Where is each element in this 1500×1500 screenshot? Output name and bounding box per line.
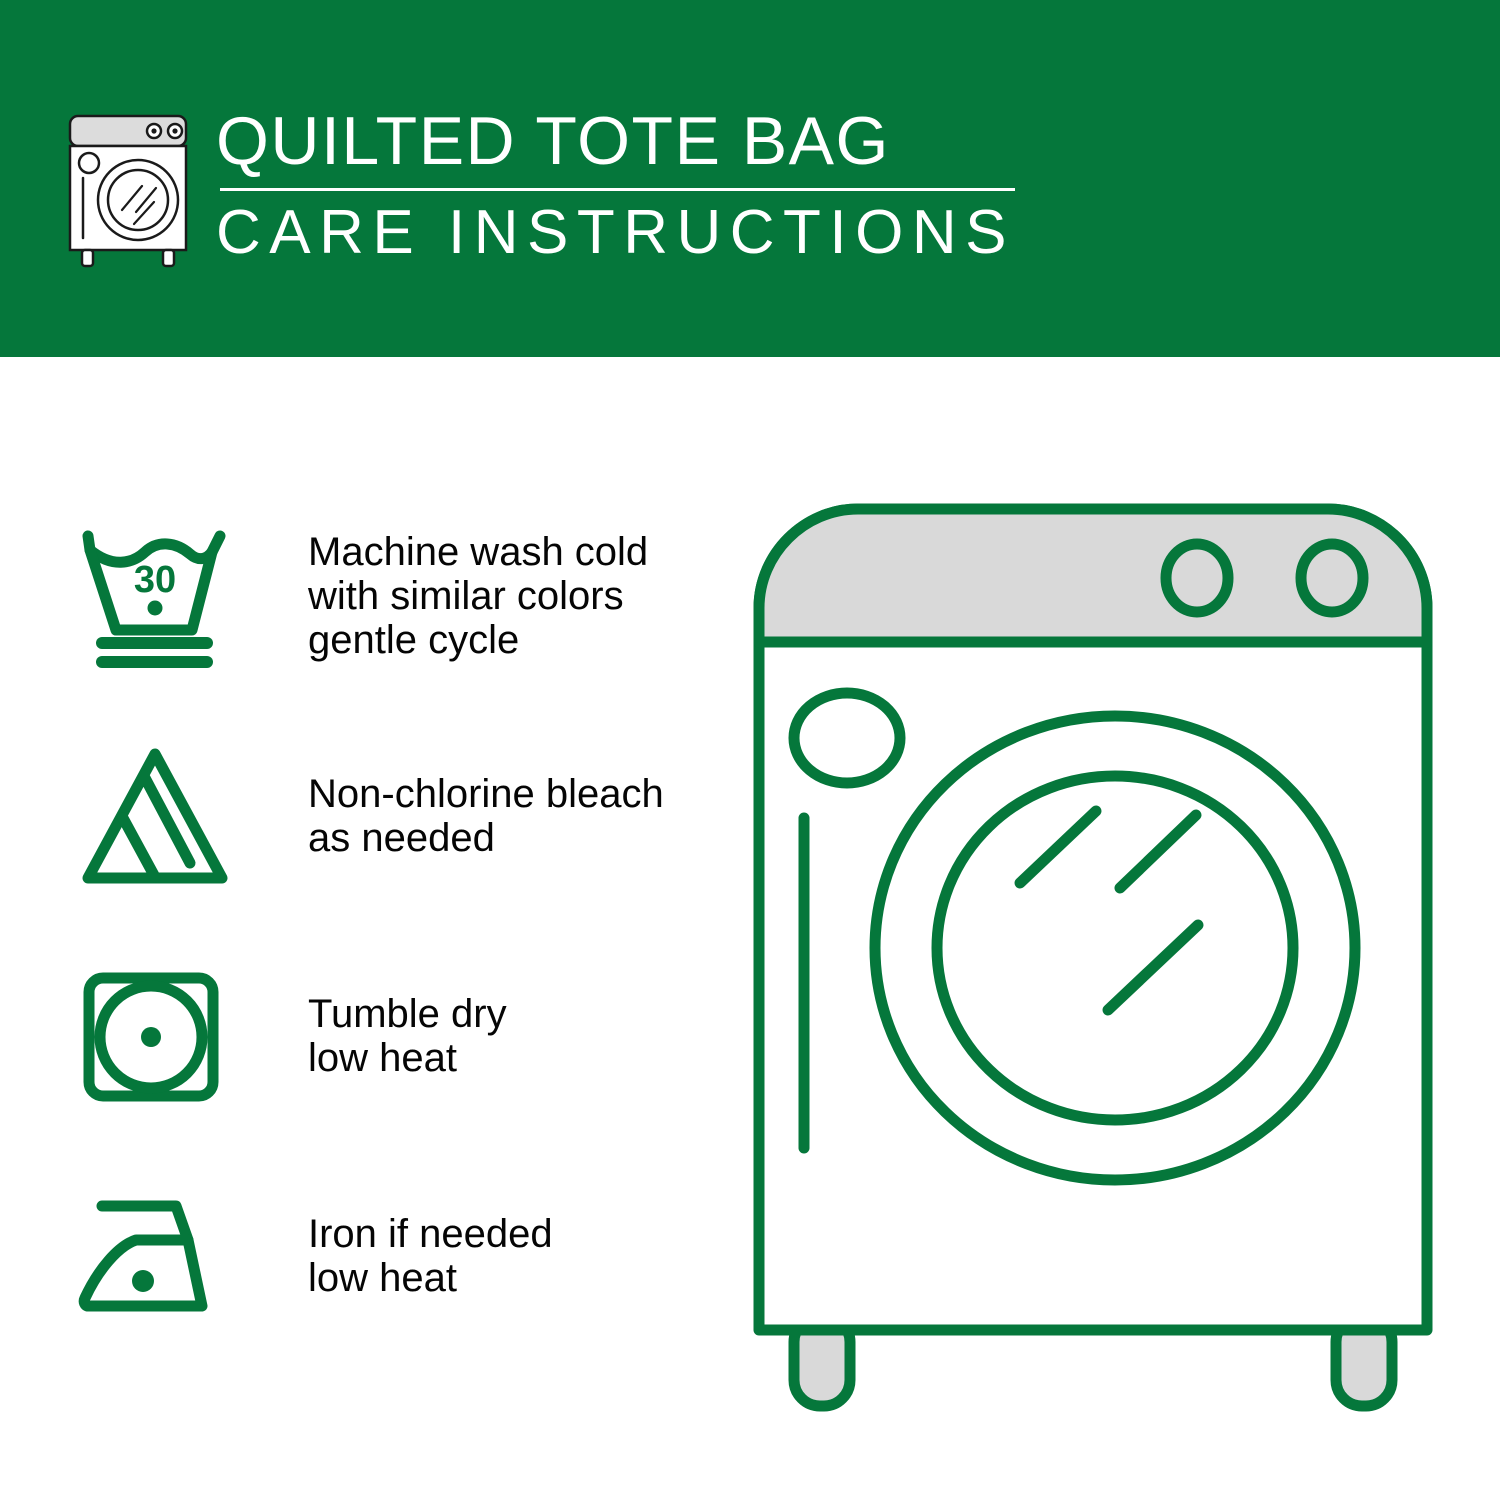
iron-low-heat-symbol — [72, 1181, 242, 1331]
care-line: as needed — [308, 816, 664, 860]
non-chlorine-bleach-symbol — [72, 741, 242, 891]
washing-machine-illustration — [748, 498, 1438, 1428]
care-row-iron: Iron if needed low heat — [72, 1172, 712, 1340]
care-line: low heat — [308, 1036, 507, 1080]
care-line: Non-chlorine bleach — [308, 772, 664, 816]
wash-temperature-value: 30 — [134, 559, 176, 601]
page-subtitle: CARE INSTRUCTIONS — [216, 199, 1015, 267]
care-text-machine-wash: Machine wash cold with similar colors ge… — [308, 530, 648, 662]
machine-wash-30-gentle-symbol: 30 — [72, 521, 242, 671]
care-line: Tumble dry — [308, 992, 507, 1036]
washer-knob-left — [1166, 544, 1228, 612]
care-text-bleach: Non-chlorine bleach as needed — [308, 772, 664, 860]
care-line: Machine wash cold — [308, 530, 648, 574]
header-content: QUILTED TOTE BAG CARE INSTRUCTIONS — [62, 104, 1015, 272]
care-row-machine-wash: 30 Machine wash cold with similar colors… — [72, 512, 712, 680]
care-text-tumble-dry: Tumble dry low heat — [308, 992, 507, 1080]
care-row-tumble-dry: Tumble dry low heat — [72, 952, 712, 1120]
tumble-dry-low-symbol — [72, 961, 242, 1111]
page-title: QUILTED TOTE BAG — [216, 104, 1015, 178]
header-banner: QUILTED TOTE BAG CARE INSTRUCTIONS — [0, 0, 1500, 357]
header-title-block: QUILTED TOTE BAG CARE INSTRUCTIONS — [216, 104, 1015, 267]
care-instruction-list: 30 Machine wash cold with similar colors… — [72, 512, 712, 1340]
care-line: low heat — [308, 1256, 553, 1300]
care-line: with similar colors — [308, 574, 648, 618]
title-divider — [220, 188, 1015, 191]
care-line: gentle cycle — [308, 618, 648, 662]
washer-detergent-port — [794, 693, 900, 783]
care-row-bleach: Non-chlorine bleach as needed — [72, 732, 712, 900]
care-text-iron: Iron if needed low heat — [308, 1212, 553, 1300]
care-line: Iron if needed — [308, 1212, 553, 1256]
washing-machine-icon — [62, 112, 194, 272]
washer-drum-inner — [937, 776, 1293, 1120]
washer-knob-right — [1301, 544, 1363, 612]
